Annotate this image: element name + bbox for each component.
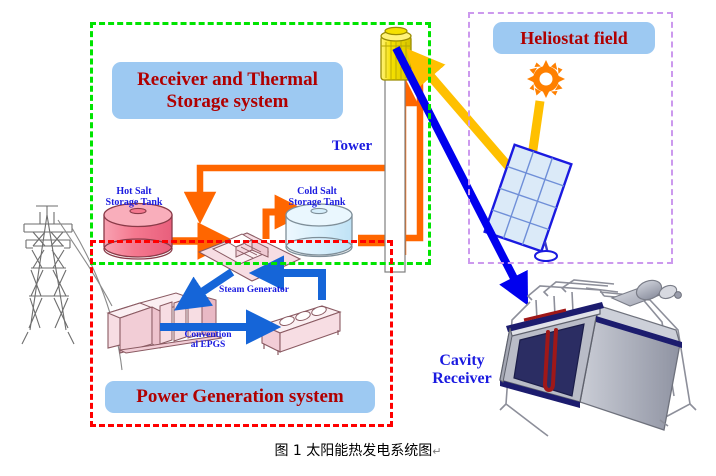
figure-caption: 图 1 太阳能热发电系统图↵ (0, 440, 716, 460)
label-power-generation-system: Power Generation system (105, 381, 375, 413)
cavity-line2: Receiver (432, 370, 492, 387)
label-hot-salt-storage-tank: Hot Salt Storage Tank (92, 186, 176, 208)
cold-tank-line1: Cold Salt (297, 186, 337, 197)
cold-tank-line2: Storage Tank (289, 197, 346, 208)
transmission-pylon-icon (22, 206, 74, 344)
paragraph-return-mark: ↵ (432, 445, 441, 458)
label-cavity-receiver: Cavity Receiver (418, 352, 506, 387)
heliostat-title: Heliostat field (520, 28, 627, 49)
label-conventional-epgs: Convention al EPGS (172, 330, 244, 351)
hot-tank-line1: Hot Salt (116, 186, 151, 197)
figure-caption-text: 图 1 太阳能热发电系统图 (274, 443, 432, 459)
label-heliostat-field: Heliostat field (493, 22, 655, 54)
cavity-receiver-render (500, 277, 696, 436)
cavity-receiver-motor (612, 277, 681, 306)
epgs-line2: al EPGS (191, 340, 226, 350)
cavity-line1: Cavity (439, 352, 484, 369)
receiver-title-line2: Storage system (167, 91, 289, 112)
label-steam-generator: Steam Generator (200, 285, 308, 295)
label-tower: Tower (316, 138, 388, 155)
hot-tank-line2: Storage Tank (106, 197, 163, 208)
power-title: Power Generation system (136, 386, 344, 408)
label-receiver-thermal-storage-system: Receiver and Thermal Storage system (112, 62, 343, 119)
label-cold-salt-storage-tank: Cold Salt Storage Tank (272, 186, 362, 208)
epgs-line1: Convention (185, 330, 232, 340)
receiver-title-line1: Receiver and Thermal (137, 69, 318, 90)
figure-canvas: Receiver and Thermal Storage system Powe… (0, 0, 716, 476)
